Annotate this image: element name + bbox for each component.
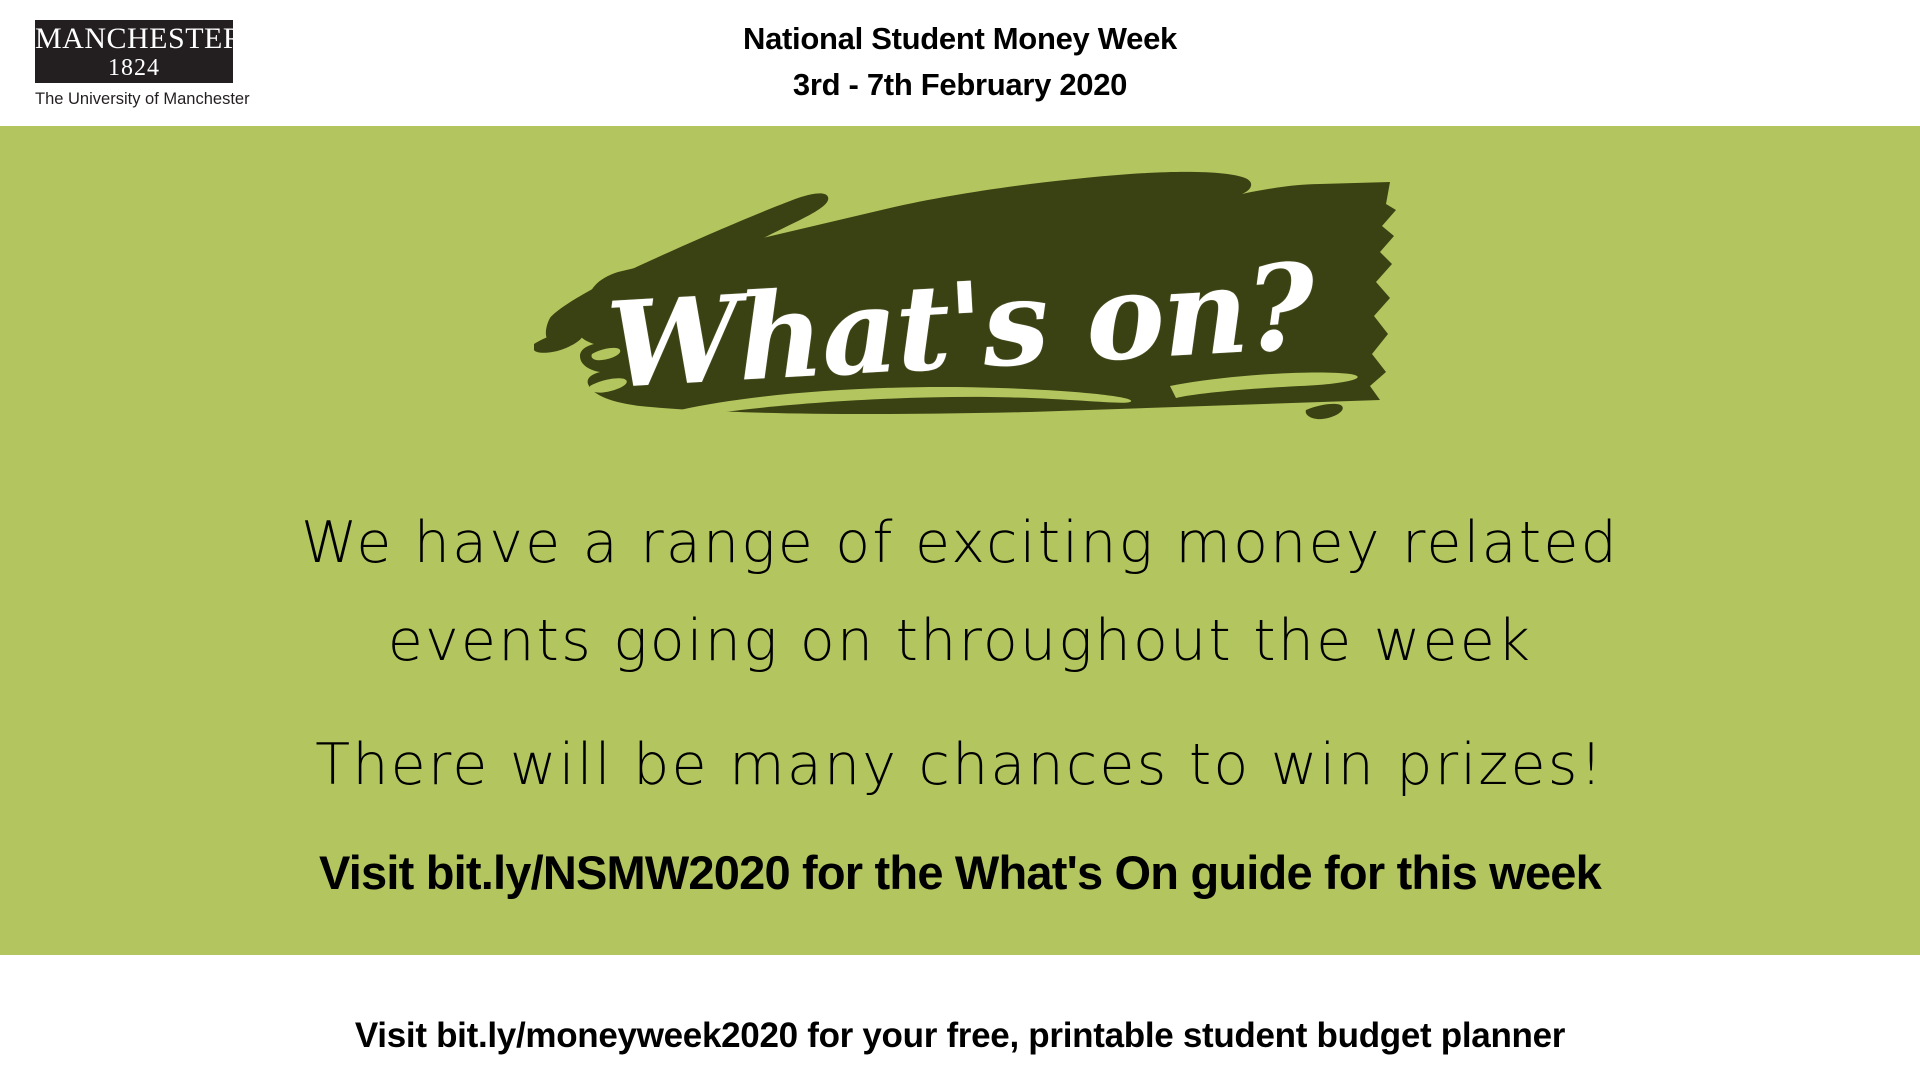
- body-line-1: We have a range of exciting money relate…: [0, 494, 1920, 592]
- page-title-line-2: 3rd - 7th February 2020: [0, 62, 1920, 108]
- footer-link-text[interactable]: Visit bit.ly/moneyweek2020 for your free…: [0, 1015, 1920, 1057]
- poster-root: MANCHESTER 1824 The University of Manche…: [0, 0, 1920, 1080]
- brush-stroke-banner: What's on?: [530, 148, 1400, 468]
- main-green-panel: What's on? We have a range of exciting m…: [0, 126, 1920, 955]
- body-paragraph-2: There will be many chances to win prizes…: [0, 716, 1920, 814]
- brush-stroke-icon: [530, 148, 1400, 468]
- cta-link-text[interactable]: Visit bit.ly/NSMW2020 for the What's On …: [0, 843, 1920, 903]
- body-line-2: events going on throughout the week: [0, 592, 1920, 690]
- body-paragraph-1: We have a range of exciting money relate…: [0, 494, 1920, 690]
- header-bar: MANCHESTER 1824 The University of Manche…: [0, 0, 1920, 126]
- page-title: National Student Money Week 3rd - 7th Fe…: [0, 16, 1920, 108]
- footer-bar: Visit bit.ly/moneyweek2020 for your free…: [0, 955, 1920, 1080]
- body-line-3: There will be many chances to win prizes…: [0, 716, 1920, 814]
- page-title-line-1: National Student Money Week: [743, 21, 1177, 56]
